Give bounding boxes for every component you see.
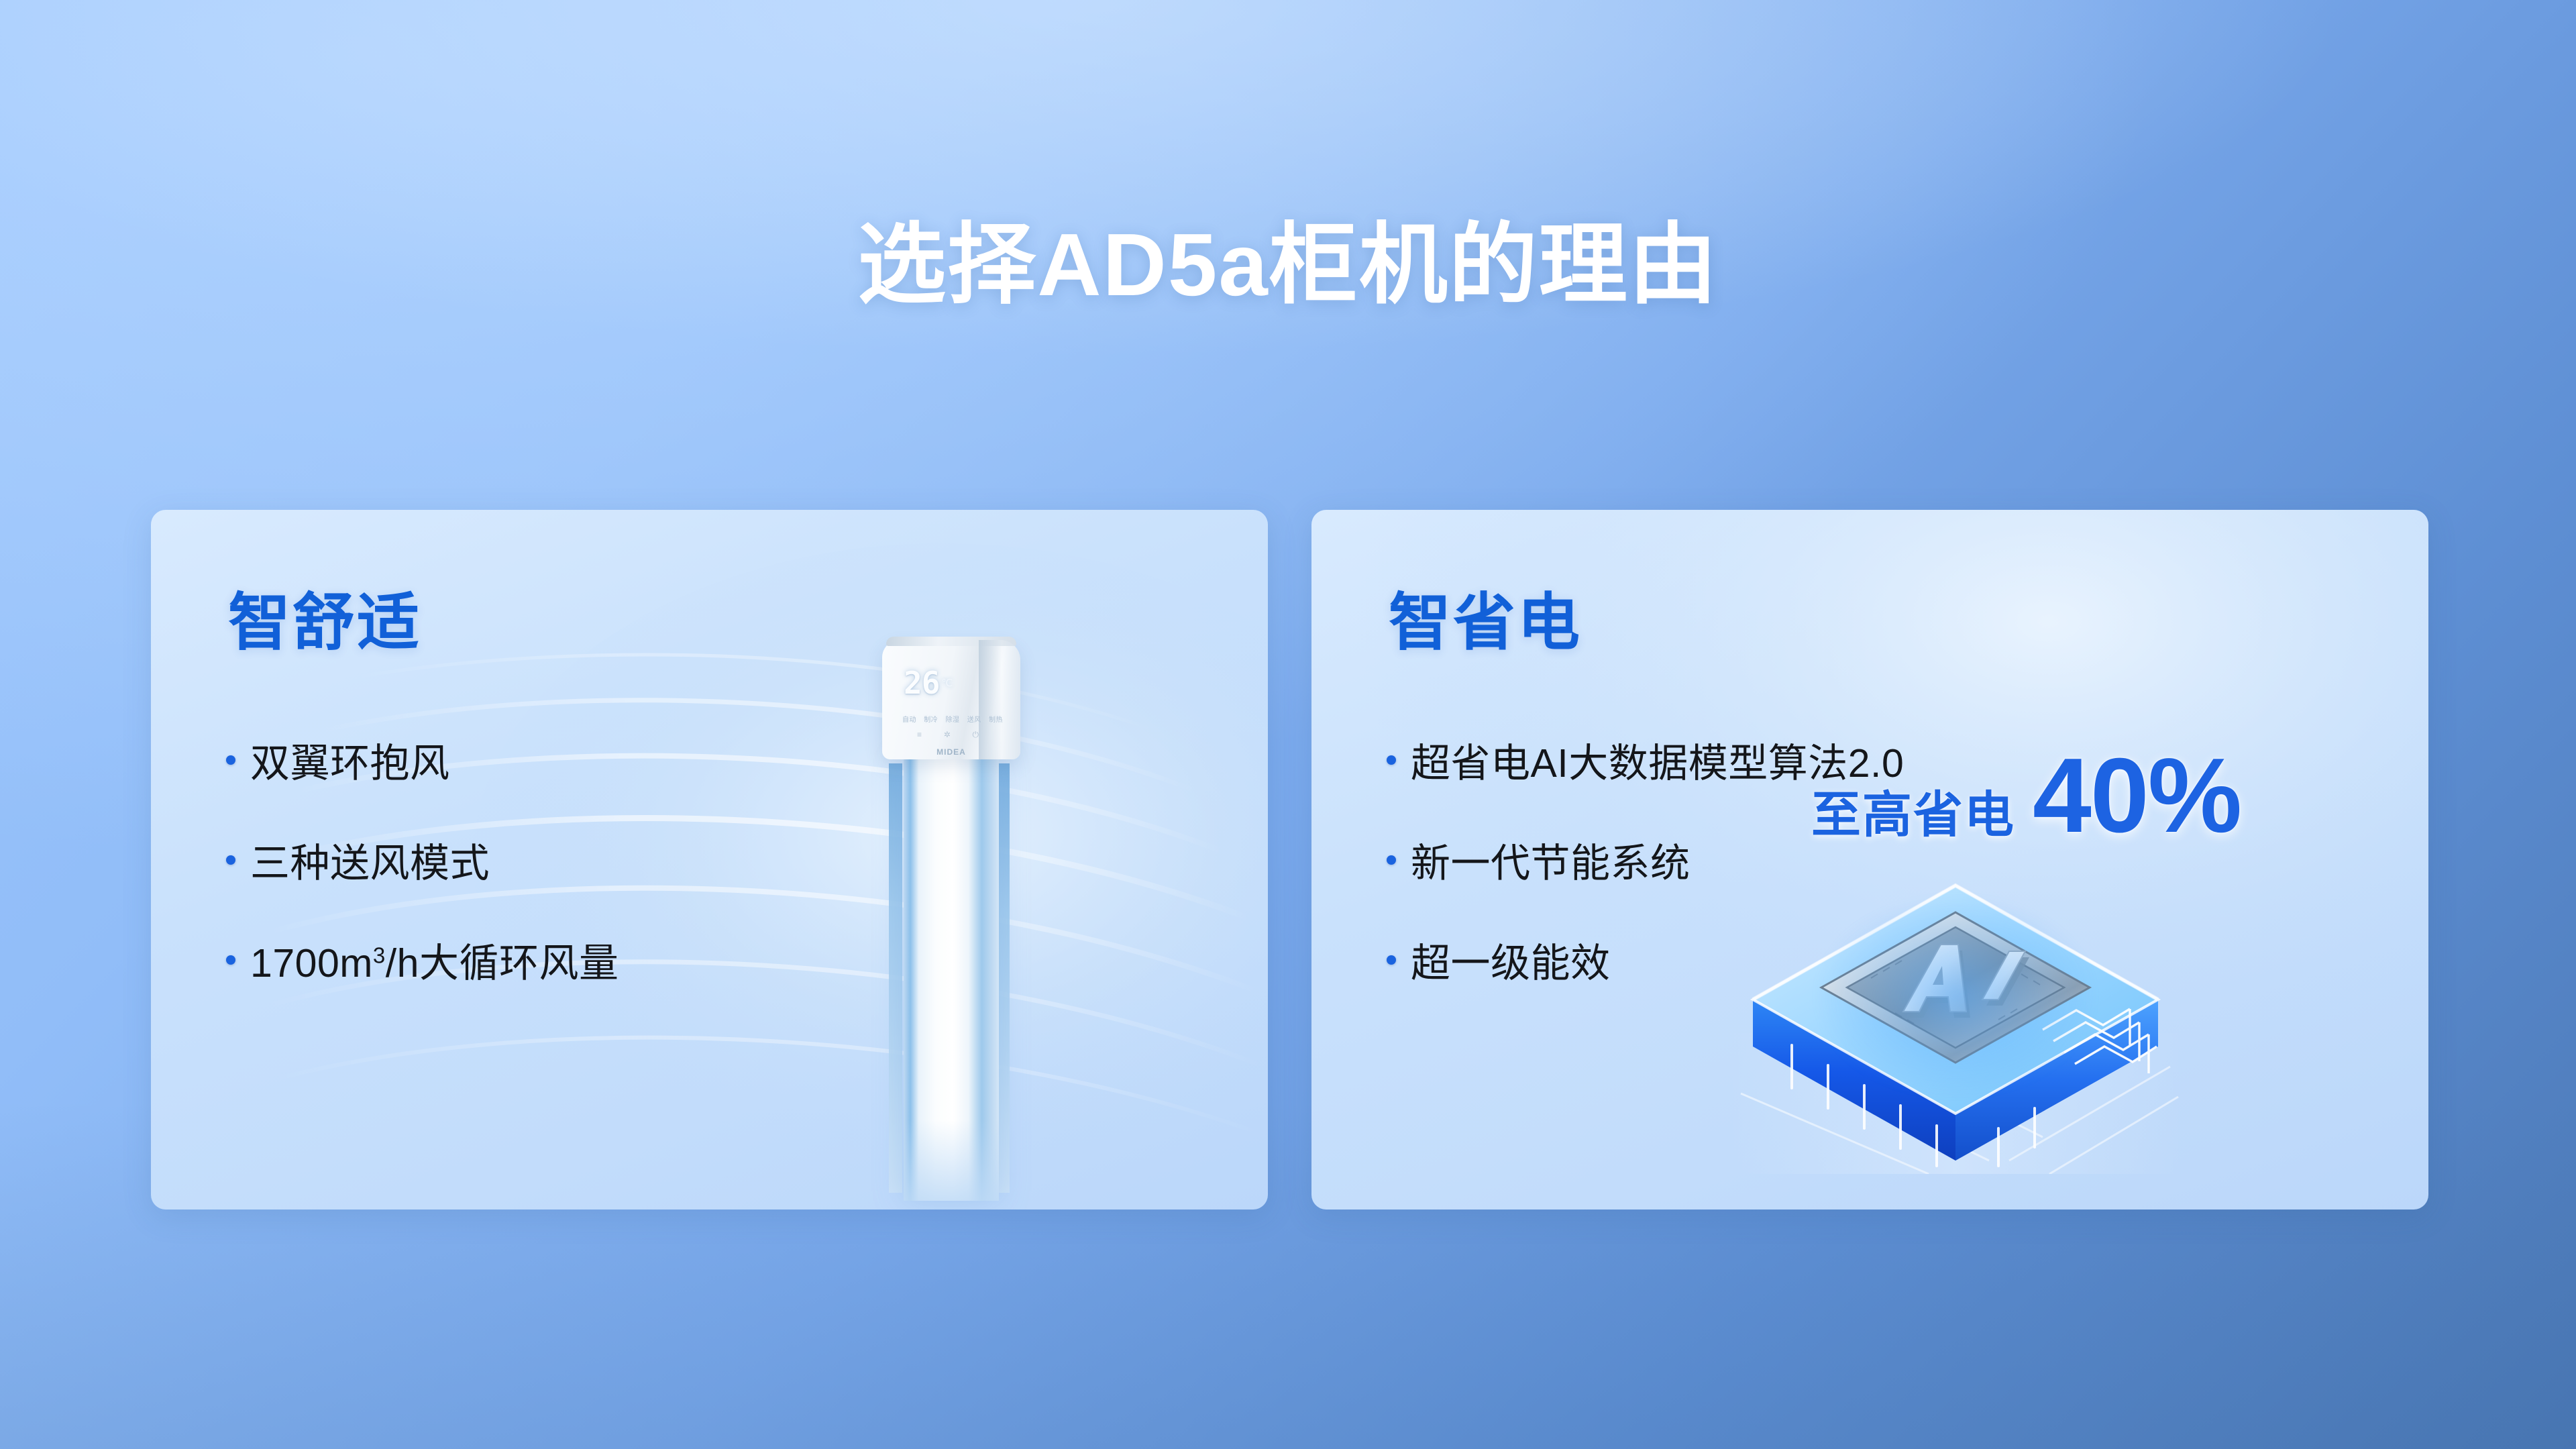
airflow-value-exponent: 3 [373, 943, 386, 968]
bullet-dot-icon [226, 955, 235, 965]
ac-head-side-edge [979, 640, 1020, 759]
list-item: 三种送风模式 [226, 831, 619, 888]
bullet-dot-icon [226, 855, 235, 865]
bullet-dot-icon [1387, 955, 1396, 965]
card-heading-power-saving: 智省电 [1389, 572, 1582, 662]
list-item-label: 超一级能效 [1411, 931, 1611, 988]
list-item-label: 三种送风模式 [250, 831, 490, 888]
ac-mode-label: 送风 [967, 714, 981, 724]
ac-menu-icon: ≡ [917, 730, 922, 740]
ac-fan-icon: ✲ [944, 730, 951, 740]
ac-key-row: ≡ ✲ ⏻ [917, 730, 979, 740]
page-title: 选择AD5a柜机的理由 [0, 216, 2576, 313]
list-item: 超一级能效 [1387, 931, 1904, 988]
card-heading-comfort: 智舒适 [228, 572, 421, 662]
ac-power-icon: ⏻ [972, 730, 979, 740]
ac-temperature-unit: ℃ [941, 678, 953, 688]
power-saving-value: 40% [2033, 748, 2241, 843]
bullet-dot-icon [226, 755, 235, 765]
air-conditioner-unit: 26 ℃ 自动 制冷 除湿 送风 制热 ≡ ✲ ⏻ MIDEA [803, 572, 1091, 1209]
ac-control-head: 26 ℃ 自动 制冷 除湿 送风 制热 ≡ ✲ ⏻ MIDEA [882, 640, 1020, 759]
bullet-dot-icon [1387, 855, 1396, 865]
feature-list-comfort: 双翼环抱风 三种送风模式 1700m3/h大循环风量 [226, 731, 619, 988]
bullet-dot-icon [1387, 755, 1396, 765]
list-item: 1700m3/h大循环风量 [226, 931, 619, 988]
list-item: 双翼环抱风 [226, 731, 619, 788]
power-saving-label: 至高省电 [1811, 775, 2015, 847]
list-item-label: 1700m3/h大循环风量 [250, 931, 619, 988]
ac-body-column [904, 758, 999, 1201]
ac-mode-label: 制冷 [924, 714, 938, 724]
feature-card-comfort: 智舒适 双翼环抱风 三种送风模式 1700m3/h大循环风量 [151, 510, 1268, 1210]
ac-mode-label-row: 自动 制冷 除湿 送风 制热 [902, 714, 1003, 724]
ac-left-vent [889, 763, 902, 1193]
ac-temperature-display: 26 ℃ [904, 664, 984, 702]
slide-root: 选择AD5a柜机的理由 [0, 0, 2576, 1449]
airflow-value-suffix: /h大循环风量 [386, 941, 619, 985]
feature-card-power-saving: 智省电 超省电AI大数据模型算法2.0 新一代节能系统 超一级能效 至高省电 4… [1311, 510, 2428, 1210]
power-saving-badge: 至高省电 40% [1811, 748, 2241, 847]
airflow-value-prefix: 1700m [250, 941, 373, 985]
ac-temperature-value: 26 [904, 667, 939, 698]
ac-mode-label: 制热 [989, 714, 1003, 724]
list-item-label: 新一代节能系统 [1411, 831, 1690, 888]
ac-mode-label: 除湿 [946, 714, 960, 724]
ac-brand-mark: MIDEA [882, 747, 1020, 757]
ac-mode-label: 自动 [902, 714, 916, 724]
list-item-label: 双翼环抱风 [250, 731, 450, 788]
